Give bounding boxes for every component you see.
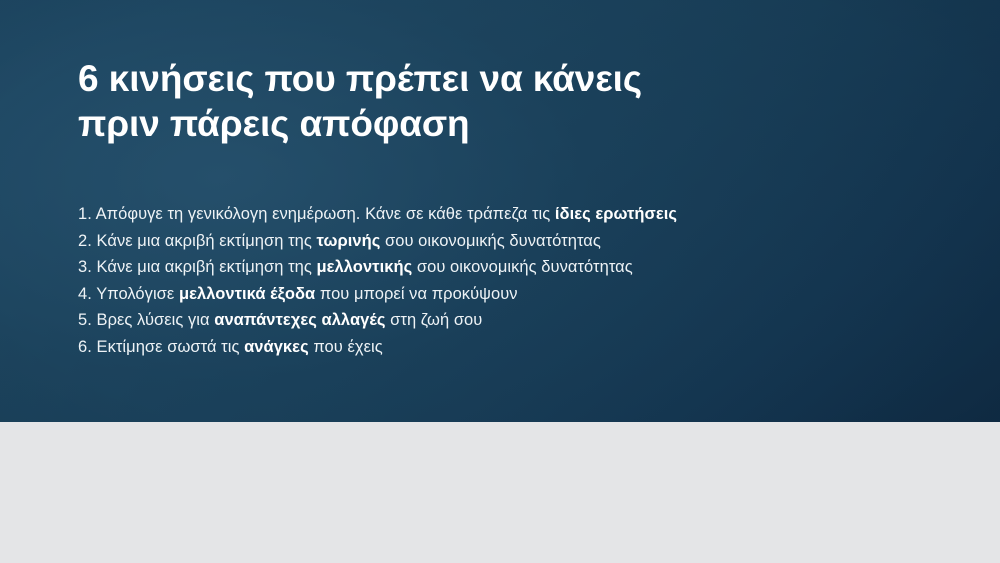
list-item-text-before: Εκτίμησε σωστά τις	[92, 338, 244, 356]
page-title: 6 κινήσεις που πρέπει να κάνεις πριν πάρ…	[78, 56, 918, 146]
page-title-line-1: 6 κινήσεις που πρέπει να κάνεις	[78, 56, 918, 101]
list-item: 3. Κάνε μια ακριβή εκτίμηση της μελλοντι…	[78, 254, 938, 281]
page-title-line-2: πριν πάρεις απόφαση	[78, 101, 918, 146]
list-item: 1. Απόφυγε τη γενικόλογη ενημέρωση. Κάνε…	[78, 201, 938, 228]
advice-list: 1. Απόφυγε τη γενικόλογη ενημέρωση. Κάνε…	[78, 201, 938, 361]
list-item-text-before: Κάνε μια ακριβή εκτίμηση της	[92, 232, 317, 250]
list-item-emphasis: αναπάντεχες αλλαγές	[214, 311, 385, 329]
list-item-number: 2.	[78, 232, 92, 250]
list-item-text-before: Κάνε μια ακριβή εκτίμηση της	[92, 258, 317, 276]
list-item-number: 5.	[78, 311, 92, 329]
list-item-emphasis: μελλοντικά έξοδα	[179, 285, 315, 303]
list-item-emphasis: τωρινής	[317, 232, 381, 250]
list-item-emphasis: μελλοντικής	[317, 258, 413, 276]
list-item-number: 1.	[78, 205, 92, 223]
list-item-emphasis: ανάγκες	[244, 338, 309, 356]
list-item-text-after: που μπορεί να προκύψουν	[315, 285, 517, 303]
list-item-number: 6.	[78, 338, 92, 356]
list-item-text-before: Απόφυγε τη γενικόλογη ενημέρωση. Κάνε σε…	[92, 205, 555, 223]
list-item-text-after: σου οικονομικής δυνατότητας	[412, 258, 633, 276]
slide-root: 6 κινήσεις που πρέπει να κάνεις πριν πάρ…	[0, 0, 1000, 563]
list-item: 4. Υπολόγισε μελλοντικά έξοδα που μπορεί…	[78, 281, 938, 308]
list-item-number: 3.	[78, 258, 92, 276]
list-item-number: 4.	[78, 285, 92, 303]
hero-panel: 6 κινήσεις που πρέπει να κάνεις πριν πάρ…	[0, 0, 1000, 422]
list-item-text-after: που έχεις	[309, 338, 383, 356]
list-item-text-before: Βρες λύσεις για	[92, 311, 214, 329]
list-item: 2. Κάνε μια ακριβή εκτίμηση της τωρινής …	[78, 228, 938, 255]
list-item-text-before: Υπολόγισε	[92, 285, 179, 303]
list-item-text-after: σου οικονομικής δυνατότητας	[380, 232, 601, 250]
list-item: 5. Βρες λύσεις για αναπάντεχες αλλαγές σ…	[78, 307, 938, 334]
list-item-emphasis: ίδιες ερωτήσεις	[555, 205, 677, 223]
list-item: 6. Εκτίμησε σωστά τις ανάγκες που έχεις	[78, 334, 938, 361]
list-item-text-after: στη ζωή σου	[386, 311, 483, 329]
footer-bar: powered by	[0, 422, 1000, 563]
